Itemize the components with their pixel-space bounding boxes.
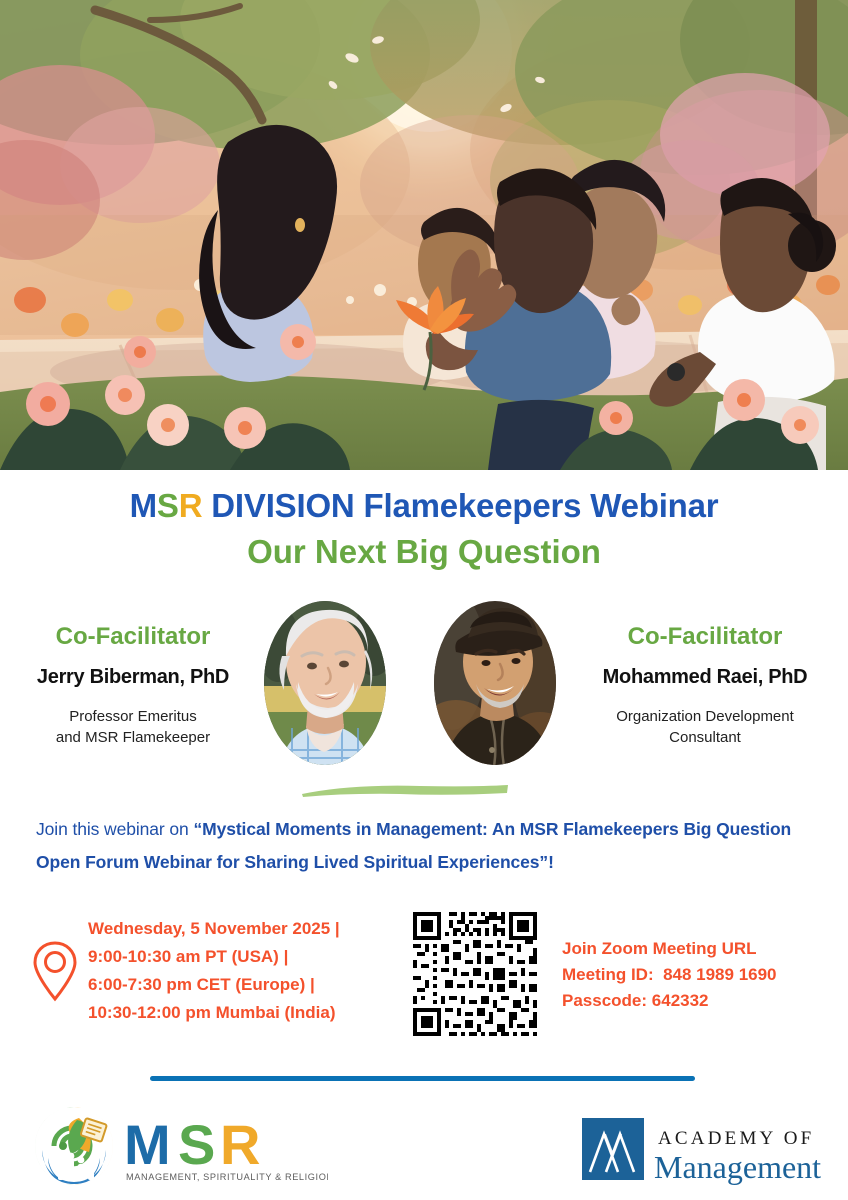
meeting-id-row: Meeting ID: 848 1989 1690 [562, 962, 777, 988]
datetime-block: Wednesday, 5 November 2025 | 9:00-10:30 … [88, 915, 398, 1027]
title-line-1: MSR DIVISION Flamekeepers Webinar [0, 484, 848, 528]
academy-of-management-logo: ACADEMY OF Management [580, 1112, 830, 1188]
zoom-meeting-info: Join Zoom Meeting URL Meeting ID: 848 19… [562, 936, 842, 1014]
flyer-page: MSR DIVISION Flamekeepers Webinar Our Ne… [0, 0, 848, 1200]
datetime-line-1: Wednesday, 5 November 2025 | [88, 915, 398, 943]
facilitator-jerry-biberman: Co-Facilitator Jerry Biberman, PhD Profe… [8, 600, 258, 748]
facilitator-title-line-1: Organization Development [580, 706, 830, 727]
facilitator-role: Co-Facilitator [8, 622, 258, 652]
title-letter-r: R [179, 487, 203, 524]
green-brush-accent [300, 782, 510, 798]
facilitator-name: Mohammed Raei, PhD [580, 664, 830, 690]
title-letter-m: M [130, 487, 157, 524]
zoom-qr-code[interactable] [409, 908, 541, 1040]
msr-logo: M S R MANAGEMENT, SPIRITUALITY & RELIGIO… [28, 1100, 328, 1192]
svg-text:S: S [178, 1113, 215, 1176]
aom-line-2: Management [654, 1149, 821, 1185]
meeting-id-label: Meeting ID: [562, 965, 654, 984]
facilitator-title: Organization Development Consultant [580, 706, 830, 748]
passcode-value: 642332 [652, 991, 709, 1010]
datetime-line-3: 6:00-7:30 pm CET (Europe) | [88, 971, 398, 999]
passcode-row: Passcode: 642332 [562, 988, 709, 1014]
footer-divider [150, 1076, 695, 1081]
join-zoom-url-label[interactable]: Join Zoom Meeting URL [562, 936, 842, 962]
title-letter-s: S [157, 487, 179, 524]
description-prefix: Join this webinar on [36, 819, 193, 839]
location-pin-icon [32, 940, 78, 1002]
facilitators-row: Co-Facilitator Jerry Biberman, PhD Profe… [0, 600, 848, 780]
facilitator-title-line-2: and MSR Flamekeeper [8, 727, 258, 748]
facilitator-title-line-1: Professor Emeritus [8, 706, 258, 727]
svg-text:R: R [220, 1113, 260, 1176]
passcode-label: Passcode: [562, 991, 647, 1010]
facilitator-title-line-2: Consultant [580, 727, 830, 748]
facilitator-photo-mohammed-raei [432, 600, 558, 766]
datetime-line-2: 9:00-10:30 am PT (USA) | [88, 943, 398, 971]
page-title: MSR DIVISION Flamekeepers Webinar Our Ne… [0, 484, 848, 574]
svg-text:M: M [124, 1113, 171, 1176]
msr-tagline: MANAGEMENT, SPIRITUALITY & RELIGION [126, 1172, 328, 1182]
webinar-description: Join this webinar on “Mystical Moments i… [36, 813, 816, 879]
title-line-1-rest: DIVISION Flamekeepers Webinar [202, 487, 718, 524]
facilitator-role: Co-Facilitator [580, 622, 830, 652]
facilitator-title: Professor Emeritus and MSR Flamekeeper [8, 706, 258, 748]
datetime-line-4: 10:30-12:00 pm Mumbai (India) [88, 999, 398, 1027]
facilitator-photo-jerry-biberman [262, 600, 388, 766]
title-line-2: Our Next Big Question [0, 530, 848, 574]
facilitator-name: Jerry Biberman, PhD [8, 664, 258, 690]
facilitator-mohammed-raei: Co-Facilitator Mohammed Raei, PhD Organi… [580, 600, 830, 748]
meeting-id-value: 848 1989 1690 [663, 965, 776, 984]
aom-line-1: ACADEMY OF [658, 1128, 814, 1149]
hero-illustration [0, 0, 848, 470]
